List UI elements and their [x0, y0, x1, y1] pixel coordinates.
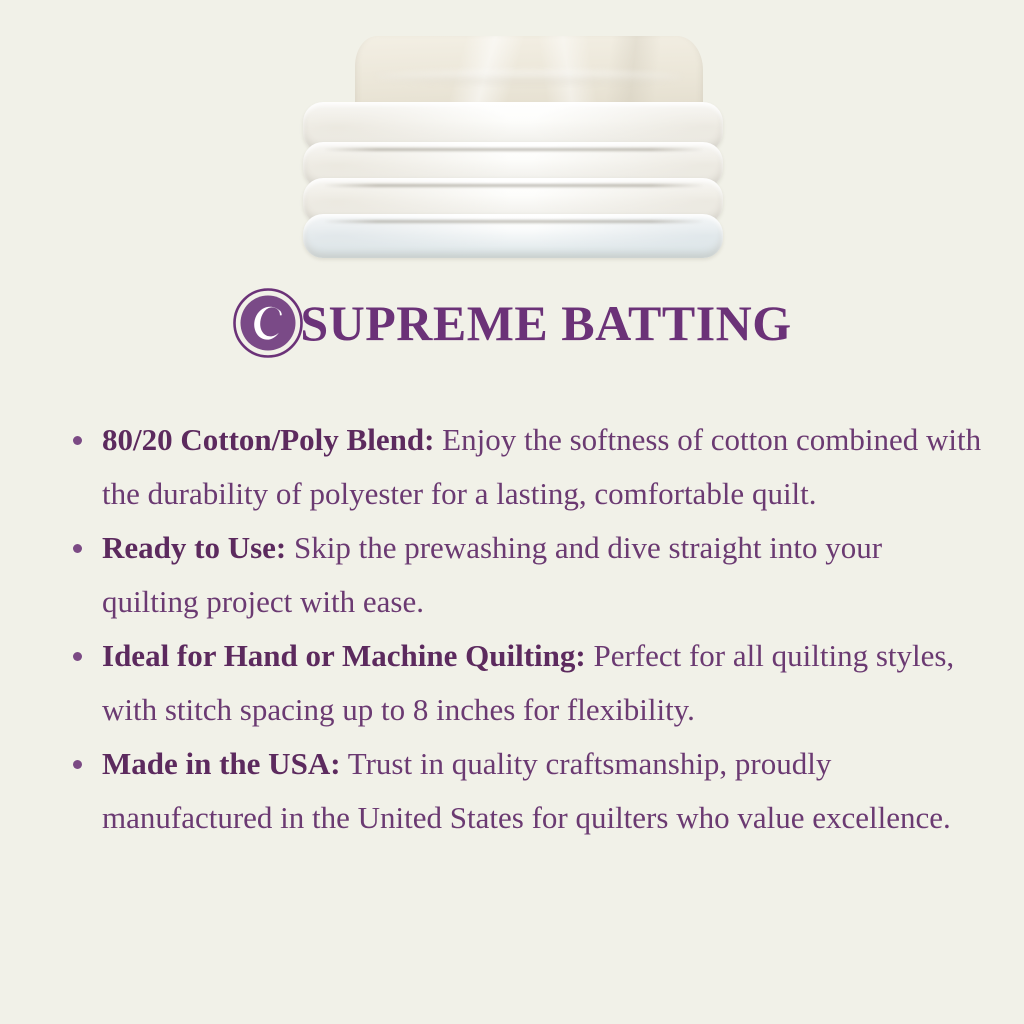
feature-list: 80/20 Cotton/Poly Blend: Enjoy the softn… — [66, 413, 986, 845]
brand-title: SUPREME BATTING — [300, 298, 791, 348]
batting-seam-1 — [323, 148, 705, 151]
feature-item: Ready to Use: Skip the prewashing and di… — [66, 521, 986, 629]
feature-lead: Made in the USA: — [102, 746, 341, 781]
product-feature-card: SUPREME BATTING 80/20 Cotton/Poly Blend:… — [0, 0, 1024, 1024]
brand-lockup: SUPREME BATTING — [0, 283, 1024, 363]
feature-item: 80/20 Cotton/Poly Blend: Enjoy the softn… — [66, 413, 986, 521]
bullet-dot-icon — [73, 436, 82, 445]
feature-lead: 80/20 Cotton/Poly Blend: — [102, 422, 434, 457]
batting-seam-2 — [323, 184, 705, 187]
feature-lead: Ideal for Hand or Machine Quilting: — [102, 638, 586, 673]
bullet-dot-icon — [73, 652, 82, 661]
feature-item: Ideal for Hand or Machine Quilting: Perf… — [66, 629, 986, 737]
circle-c-monogram-logo-icon — [232, 287, 304, 359]
batting-stack-illustration — [303, 36, 723, 236]
feature-lead: Ready to Use: — [102, 530, 286, 565]
bullet-dot-icon — [73, 760, 82, 769]
product-image — [0, 36, 1024, 241]
batting-seam-3 — [323, 220, 705, 223]
bullet-dot-icon — [73, 544, 82, 553]
feature-item: Made in the USA: Trust in quality crafts… — [66, 737, 986, 845]
